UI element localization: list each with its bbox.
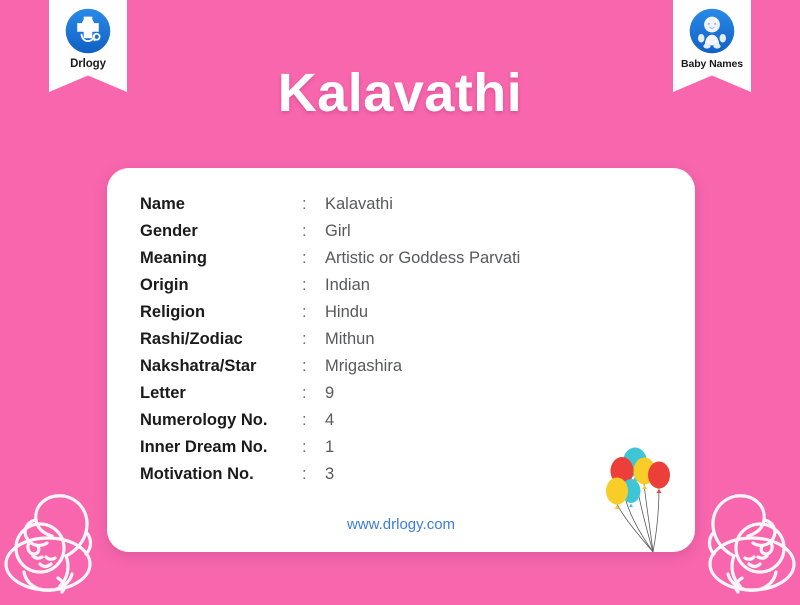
row-label: Motivation No. (140, 461, 302, 488)
row-separator: : (302, 218, 324, 245)
row-label: Name (140, 191, 302, 218)
row-label: Origin (140, 272, 302, 299)
name-details-card: Name : Kalavathi Gender : Girl Meaning :… (107, 168, 695, 552)
table-row: Meaning : Artistic or Goddess Parvati (140, 245, 520, 272)
row-separator: : (302, 245, 324, 272)
row-separator: : (302, 191, 324, 218)
page-title: Kalavathi (0, 62, 800, 124)
table-row: Origin : Indian (140, 272, 520, 299)
table-row: Motivation No. : 3 (140, 461, 520, 488)
row-separator: : (302, 380, 324, 407)
row-value: 1 (324, 434, 520, 461)
row-label: Inner Dream No. (140, 434, 302, 461)
row-value: Girl (324, 218, 520, 245)
row-label: Letter (140, 380, 302, 407)
decoration-mother-baby-left (0, 480, 106, 600)
row-label: Gender (140, 218, 302, 245)
name-details-table: Name : Kalavathi Gender : Girl Meaning :… (140, 191, 520, 488)
row-separator: : (302, 353, 324, 380)
website-link[interactable]: www.drlogy.com (107, 516, 695, 533)
row-label: Rashi/Zodiac (140, 326, 302, 353)
row-separator: : (302, 461, 324, 488)
row-separator: : (302, 272, 324, 299)
table-row: Nakshatra/Star : Mrigashira (140, 353, 520, 380)
row-value: Kalavathi (324, 191, 520, 218)
table-row: Letter : 9 (140, 380, 520, 407)
decoration-mother-baby-right (694, 480, 800, 600)
baby-avatar-icon (689, 8, 735, 54)
row-value: Artistic or Goddess Parvati (324, 245, 520, 272)
row-value: Mrigashira (324, 353, 520, 380)
table-row: Rashi/Zodiac : Mithun (140, 326, 520, 353)
row-label: Numerology No. (140, 407, 302, 434)
table-body: Name : Kalavathi Gender : Girl Meaning :… (140, 191, 520, 488)
row-label: Religion (140, 299, 302, 326)
row-separator: : (302, 326, 324, 353)
doctor-medical-cross-icon (65, 8, 111, 54)
row-value: Hindu (324, 299, 520, 326)
row-separator: : (302, 407, 324, 434)
row-value: 4 (324, 407, 520, 434)
table-row: Inner Dream No. : 1 (140, 434, 520, 461)
row-label: Nakshatra/Star (140, 353, 302, 380)
row-value: Indian (324, 272, 520, 299)
table-row: Gender : Girl (140, 218, 520, 245)
row-value: 3 (324, 461, 520, 488)
row-separator: : (302, 299, 324, 326)
row-value: 9 (324, 380, 520, 407)
row-label: Meaning (140, 245, 302, 272)
table-row: Numerology No. : 4 (140, 407, 520, 434)
row-value: Mithun (324, 326, 520, 353)
table-row: Name : Kalavathi (140, 191, 520, 218)
row-separator: : (302, 434, 324, 461)
table-row: Religion : Hindu (140, 299, 520, 326)
balloons-illustration (599, 440, 691, 552)
